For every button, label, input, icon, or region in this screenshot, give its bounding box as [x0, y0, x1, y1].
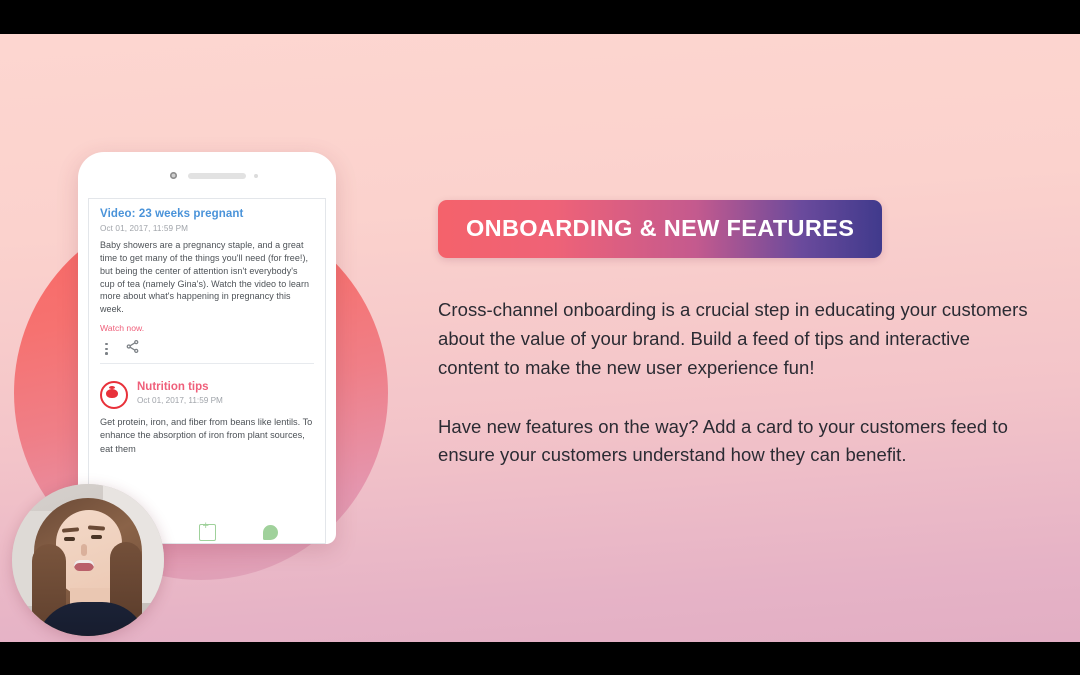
- more-options-icon[interactable]: [105, 343, 108, 355]
- presenter-webcam-bubble: [12, 484, 164, 636]
- card-header: Nutrition tips Oct 01, 2017, 11:59 PM: [100, 381, 314, 409]
- proximity-sensor-icon: [254, 174, 258, 178]
- card-timestamp: Oct 01, 2017, 11:59 PM: [100, 224, 314, 233]
- presenter-nose: [81, 544, 87, 556]
- tomato-icon: [100, 381, 128, 409]
- letterbox-top: [0, 0, 1080, 34]
- share-icon[interactable]: [125, 339, 140, 359]
- feed-card-video[interactable]: Video: 23 weeks pregnant Oct 01, 2017, 1…: [89, 199, 325, 370]
- slide-paragraph-2: Have new features on the way? Add a card…: [438, 413, 1038, 471]
- phone-screen: Video: 23 weeks pregnant Oct 01, 2017, 1…: [88, 198, 326, 522]
- slide-content-column: ONBOARDING & NEW FEATURES Cross-channel …: [438, 200, 1038, 470]
- letterbox-bottom: [0, 642, 1080, 675]
- front-camera-icon: [170, 172, 177, 179]
- chat-bubble-icon[interactable]: [263, 525, 278, 540]
- slide-title: ONBOARDING & NEW FEATURES: [466, 215, 854, 241]
- card-title: Nutrition tips: [137, 381, 223, 394]
- presenter-eye-left: [64, 537, 75, 541]
- speaker-grille: [188, 173, 246, 179]
- phone-top-bezel: [78, 152, 336, 198]
- card-title: Video: 23 weeks pregnant: [100, 208, 314, 221]
- presenter-mouth: [74, 560, 94, 571]
- presenter-eye-right: [91, 535, 102, 539]
- slide-paragraph-1: Cross-channel onboarding is a crucial st…: [438, 296, 1028, 383]
- watch-now-link[interactable]: Watch now.: [100, 323, 314, 333]
- medical-bag-icon[interactable]: [199, 524, 216, 541]
- card-divider: [100, 363, 314, 364]
- card-timestamp: Oct 01, 2017, 11:59 PM: [137, 396, 223, 405]
- slide-title-banner: ONBOARDING & NEW FEATURES: [438, 200, 882, 258]
- presentation-slide: Video: 23 weeks pregnant Oct 01, 2017, 1…: [0, 34, 1080, 642]
- card-body-text: Baby showers are a pregnancy staple, and…: [100, 239, 314, 316]
- feed-card-nutrition[interactable]: Nutrition tips Oct 01, 2017, 11:59 PM Ge…: [89, 370, 325, 460]
- card-body-text: Get protein, iron, and fiber from beans …: [100, 416, 314, 456]
- card-action-row: [100, 340, 314, 358]
- slide-screenshot: Video: 23 weeks pregnant Oct 01, 2017, 1…: [0, 0, 1080, 675]
